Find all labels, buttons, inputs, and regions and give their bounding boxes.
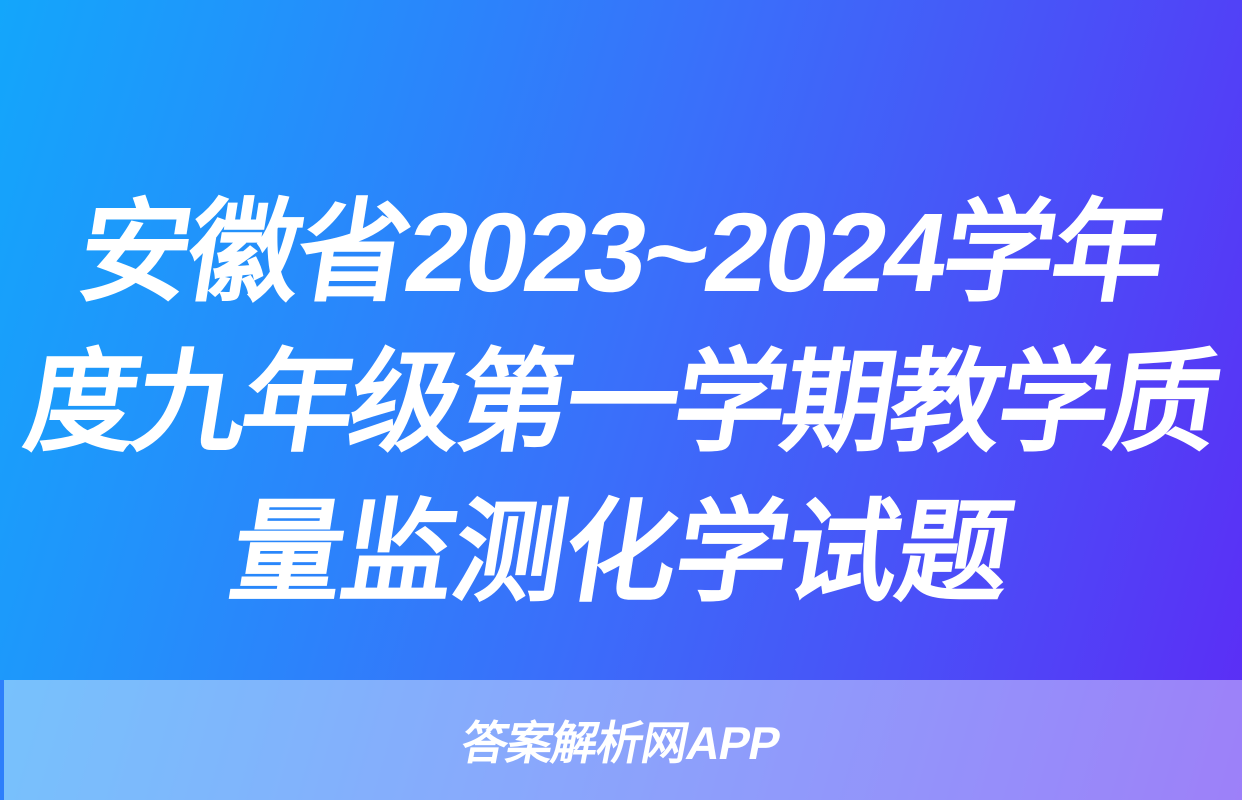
title-line-2: 度九年级第一学期教学质 xyxy=(0,328,1242,478)
exam-cover-poster: 安徽省2023~2024学年 度九年级第一学期教学质 量监测化学试题 答案解析网… xyxy=(0,0,1242,800)
title-line-3: 量监测化学试题 xyxy=(0,478,1242,628)
watermark-label: 答案解析网APP xyxy=(456,707,785,773)
watermark-text: 答案解析网APP xyxy=(0,707,1242,773)
watermark-band: 答案解析网APP xyxy=(0,680,1242,800)
page-title: 安徽省2023~2024学年 度九年级第一学期教学质 量监测化学试题 xyxy=(0,178,1242,628)
title-line-1: 安徽省2023~2024学年 xyxy=(0,178,1242,328)
